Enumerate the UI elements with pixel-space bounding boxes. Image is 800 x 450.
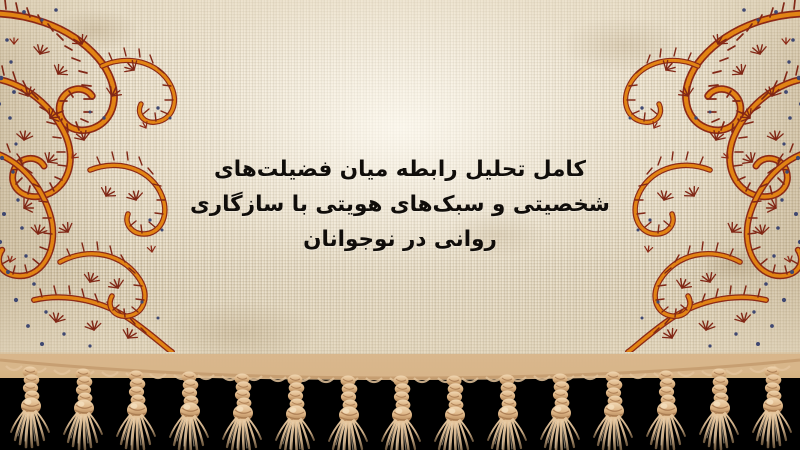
title-line-3: روانی در نوجوانان [165, 222, 635, 257]
title-line-1: کامل تحلیل رابطه میان فضیلت‌های [165, 152, 635, 187]
title-text-block: کامل تحلیل رابطه میان فضیلت‌های شخصیتی و… [165, 152, 635, 257]
tassel-fringe [0, 354, 800, 450]
title-card-canvas: کامل تحلیل رابطه میان فضیلت‌های شخصیتی و… [0, 0, 800, 450]
title-line-2: شخصیتی و سبک‌های هویتی با سازگاری [165, 187, 635, 222]
